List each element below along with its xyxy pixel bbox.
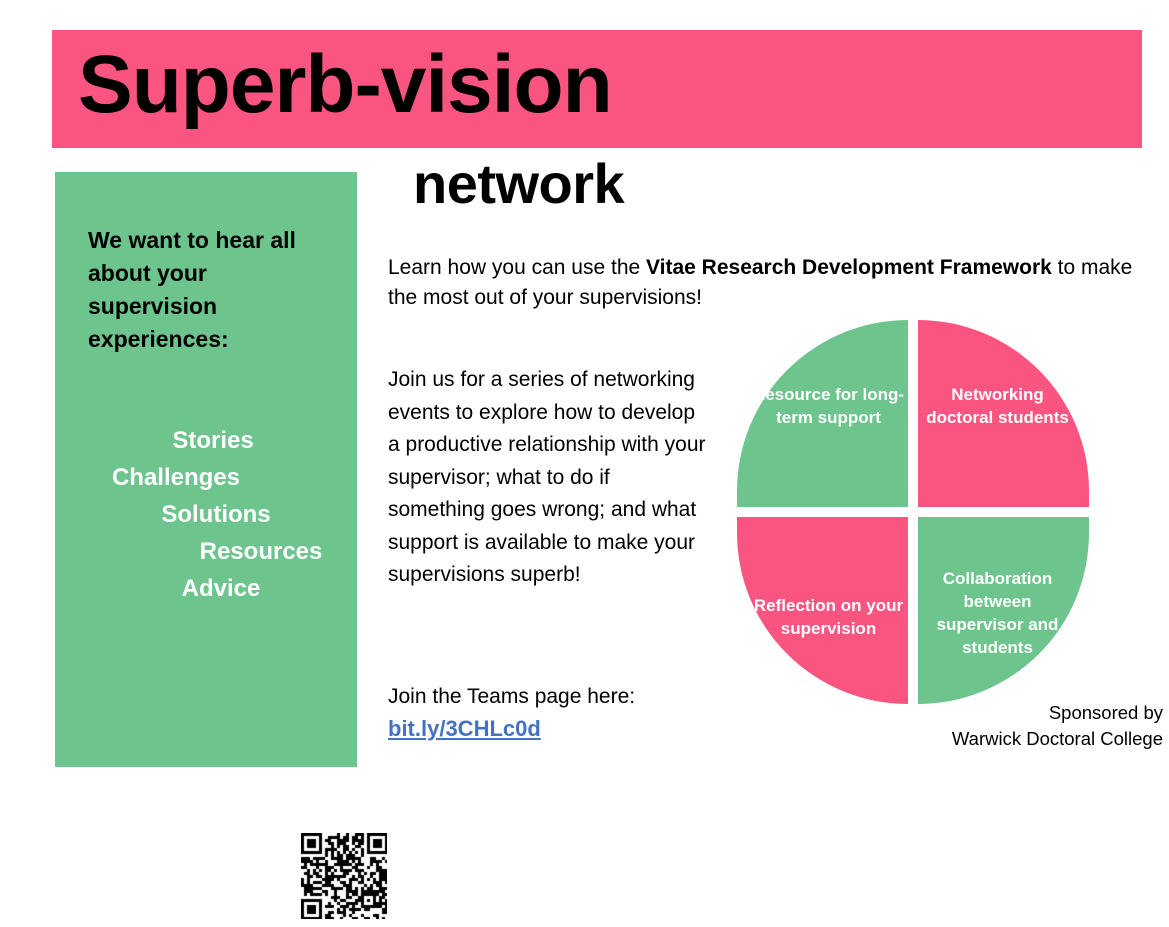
qr-code-image <box>301 833 387 919</box>
sidebar-panel: We want to hear all about your supervisi… <box>55 172 357 767</box>
sponsor-line-2: Warwick Doctoral College <box>869 726 1163 752</box>
sidebar-keyword-solutions: Solutions <box>55 496 357 533</box>
sponsor-credit: Sponsored by Warwick Doctoral College <box>869 700 1163 752</box>
teams-link[interactable]: bit.ly/3CHLc0d <box>388 714 541 744</box>
body-paragraph: Join us for a series of networking event… <box>388 364 706 592</box>
lead-text-before: Learn how you can use the <box>388 256 646 279</box>
sidebar-keyword-resources: Resources <box>55 533 357 570</box>
quadrant-top-right-label: Networking doctoral students <box>918 383 1077 429</box>
quadrant-bottom-left: Reflection on your supervision <box>737 517 908 704</box>
page-title: Superb-vision <box>78 26 612 144</box>
sidebar-keyword-advice: Advice <box>55 570 357 607</box>
sidebar-keyword-stories: Stories <box>55 422 357 459</box>
quadrant-top-left: Resource for long-term support <box>737 320 908 507</box>
quadrant-bottom-right-label: Collaboration between supervisor and stu… <box>918 567 1077 659</box>
sidebar-heading: We want to hear all about your supervisi… <box>88 224 318 356</box>
sidebar-keyword-list: Stories Challenges Solutions Resources A… <box>55 422 357 607</box>
lead-text-bold: Vitae Research Development Framework <box>646 256 1052 279</box>
quadrant-diagram: Resource for long-term support Networkin… <box>737 320 1089 704</box>
title-banner: Superb-vision <box>52 30 1142 148</box>
sidebar-keyword-challenges: Challenges <box>55 459 357 496</box>
quadrant-bottom-right: Collaboration between supervisor and stu… <box>918 517 1089 704</box>
quadrant-top-left-label: Resource for long-term support <box>749 383 908 429</box>
quadrant-top-right: Networking doctoral students <box>918 320 1089 507</box>
lead-paragraph: Learn how you can use the Vitae Research… <box>388 253 1163 313</box>
sponsor-line-1: Sponsored by <box>869 700 1163 726</box>
quadrant-bottom-left-label: Reflection on your supervision <box>749 594 908 640</box>
qr-code[interactable] <box>293 825 395 927</box>
teams-label: Join the Teams page here: <box>388 682 635 712</box>
page-subtitle: network <box>413 152 624 216</box>
